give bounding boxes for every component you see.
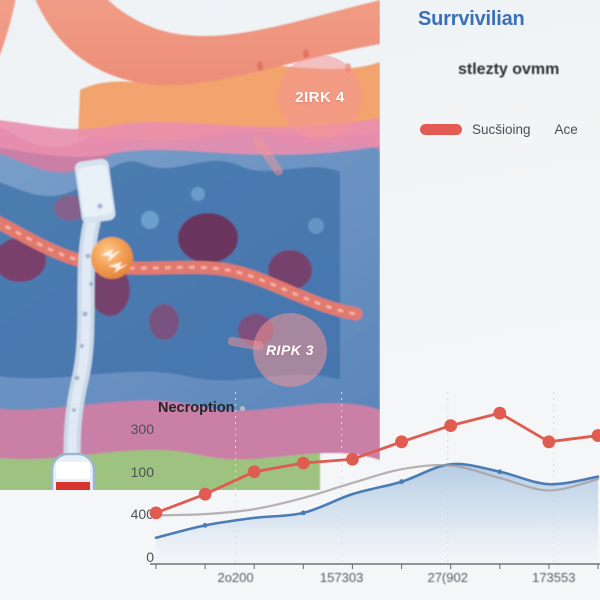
chart-header: Surrvivilian ѕtlezty ovmm — [418, 8, 600, 79]
callout-bubble-ripk3[interactable]: RIPK 3 — [253, 313, 327, 387]
x-axis-tick: 173553 — [532, 570, 575, 585]
page-title: Surrvivilian — [418, 8, 600, 31]
blood-collection-tube — [52, 454, 94, 490]
legend-label-sucsioing[interactable]: Sucšioing — [472, 122, 531, 137]
chart-subtitle: ѕtlezty ovmm — [458, 61, 600, 79]
x-axis-tick: 2ᴏ200 — [217, 570, 253, 585]
screenshot-root: 2IRK 4 RIPK 3 Surrvivilian ѕtlezty ovmm … — [0, 0, 600, 600]
legend-swatch-sucsioing — [420, 124, 462, 135]
chart-legend: Sucšioing Ace — [420, 122, 578, 137]
callout-bubble-ripk4[interactable]: 2IRK 4 — [278, 55, 362, 139]
legend-label-ace[interactable]: Ace — [555, 122, 578, 137]
chart-area-series — [156, 464, 598, 564]
x-axis-tick: 157303 — [320, 570, 363, 585]
x-axis-labels: 2ᴏ20015730327(902173553 — [110, 564, 600, 594]
x-axis-tick: 27(902 — [427, 570, 467, 585]
line-chart: Necroption 3001004000 2ᴏ20015730327(9021… — [110, 388, 600, 600]
